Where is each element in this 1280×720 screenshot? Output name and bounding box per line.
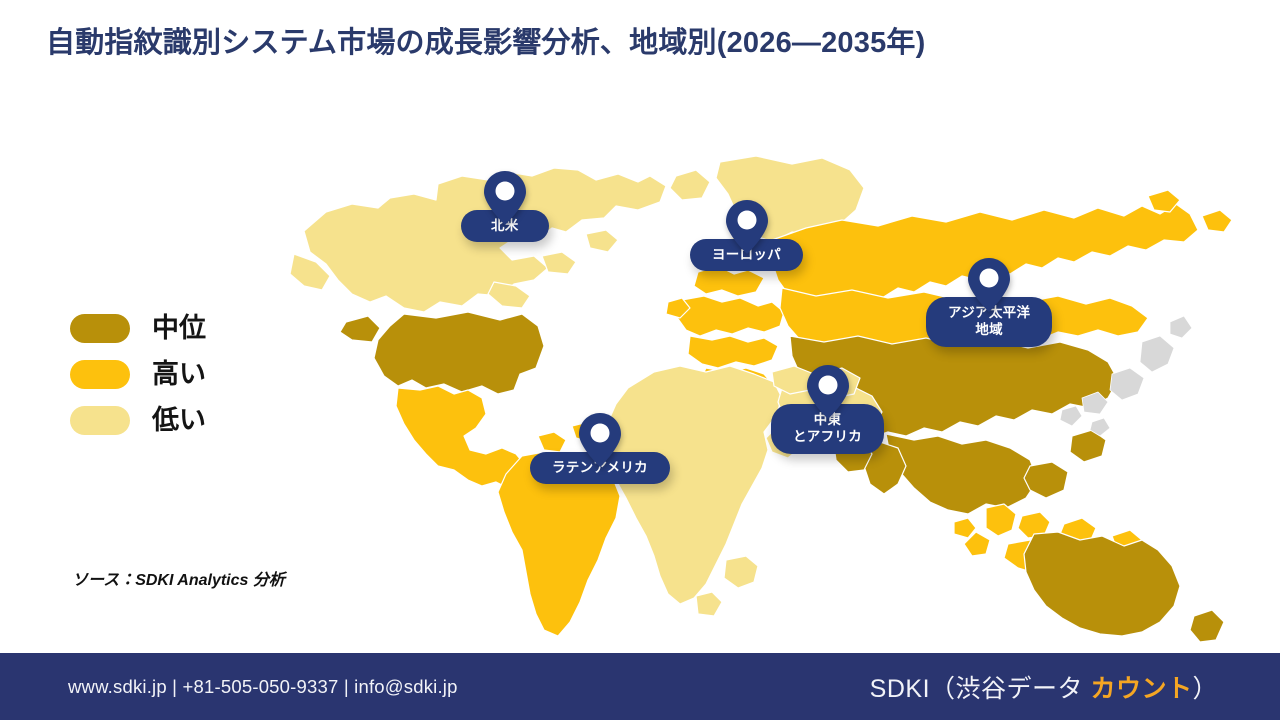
footer-bar: www.sdki.jp | +81-505-050-9337 | info@sd… xyxy=(0,653,1280,720)
legend-item-high: 高い xyxy=(70,360,206,389)
map-region-usa xyxy=(340,312,544,394)
location-pin-icon xyxy=(725,199,769,255)
location-pin-icon xyxy=(967,257,1011,313)
slide-root: 自動指紋識別システム市場の成長影響分析、地域別(2026—2035年) 中位 高… xyxy=(0,0,1280,720)
map-region-australia xyxy=(1024,532,1224,642)
world-map: 北米 ヨーロッパ アジア太平洋 地域 中東 とアフリカ xyxy=(286,136,1252,646)
map-pin-asia-pacific[interactable]: アジア太平洋 地域 xyxy=(926,257,1052,347)
map-pin-north-america[interactable]: 北米 xyxy=(461,170,549,242)
footer-contact-info[interactable]: www.sdki.jp | +81-505-050-9337 | info@sd… xyxy=(68,676,458,698)
footer-brand: SDKI（渋谷データ カウント） xyxy=(870,669,1218,705)
legend-swatch-low xyxy=(70,406,130,435)
legend-label-low: 低い xyxy=(152,407,206,434)
page-title: 自動指紋識別システム市場の成長影響分析、地域別(2026—2035年) xyxy=(46,25,1246,61)
location-pin-icon xyxy=(578,412,622,468)
legend-swatch-high xyxy=(70,360,130,389)
location-pin-icon xyxy=(483,170,527,226)
footer-brand-prefix: SDKI（渋谷データ xyxy=(870,675,1091,703)
legend-label-high: 高い xyxy=(152,361,206,388)
legend-label-medium: 中位 xyxy=(152,315,206,342)
legend: 中位 高い 低い xyxy=(70,314,206,435)
map-pin-europe[interactable]: ヨーロッパ xyxy=(690,199,803,271)
map-pin-middle-east-africa[interactable]: 中東 とアフリカ xyxy=(771,364,884,454)
legend-swatch-medium xyxy=(70,314,130,343)
source-note: ソース：SDKI Analytics 分析 xyxy=(72,566,285,590)
legend-item-low: 低い xyxy=(70,406,206,435)
location-pin-icon xyxy=(806,364,850,420)
legend-item-medium: 中位 xyxy=(70,314,206,343)
footer-brand-accent: カウント xyxy=(1090,675,1192,703)
map-pin-latin-america[interactable]: ラテンアメリカ xyxy=(530,412,670,484)
footer-brand-suffix: ） xyxy=(1192,675,1218,703)
